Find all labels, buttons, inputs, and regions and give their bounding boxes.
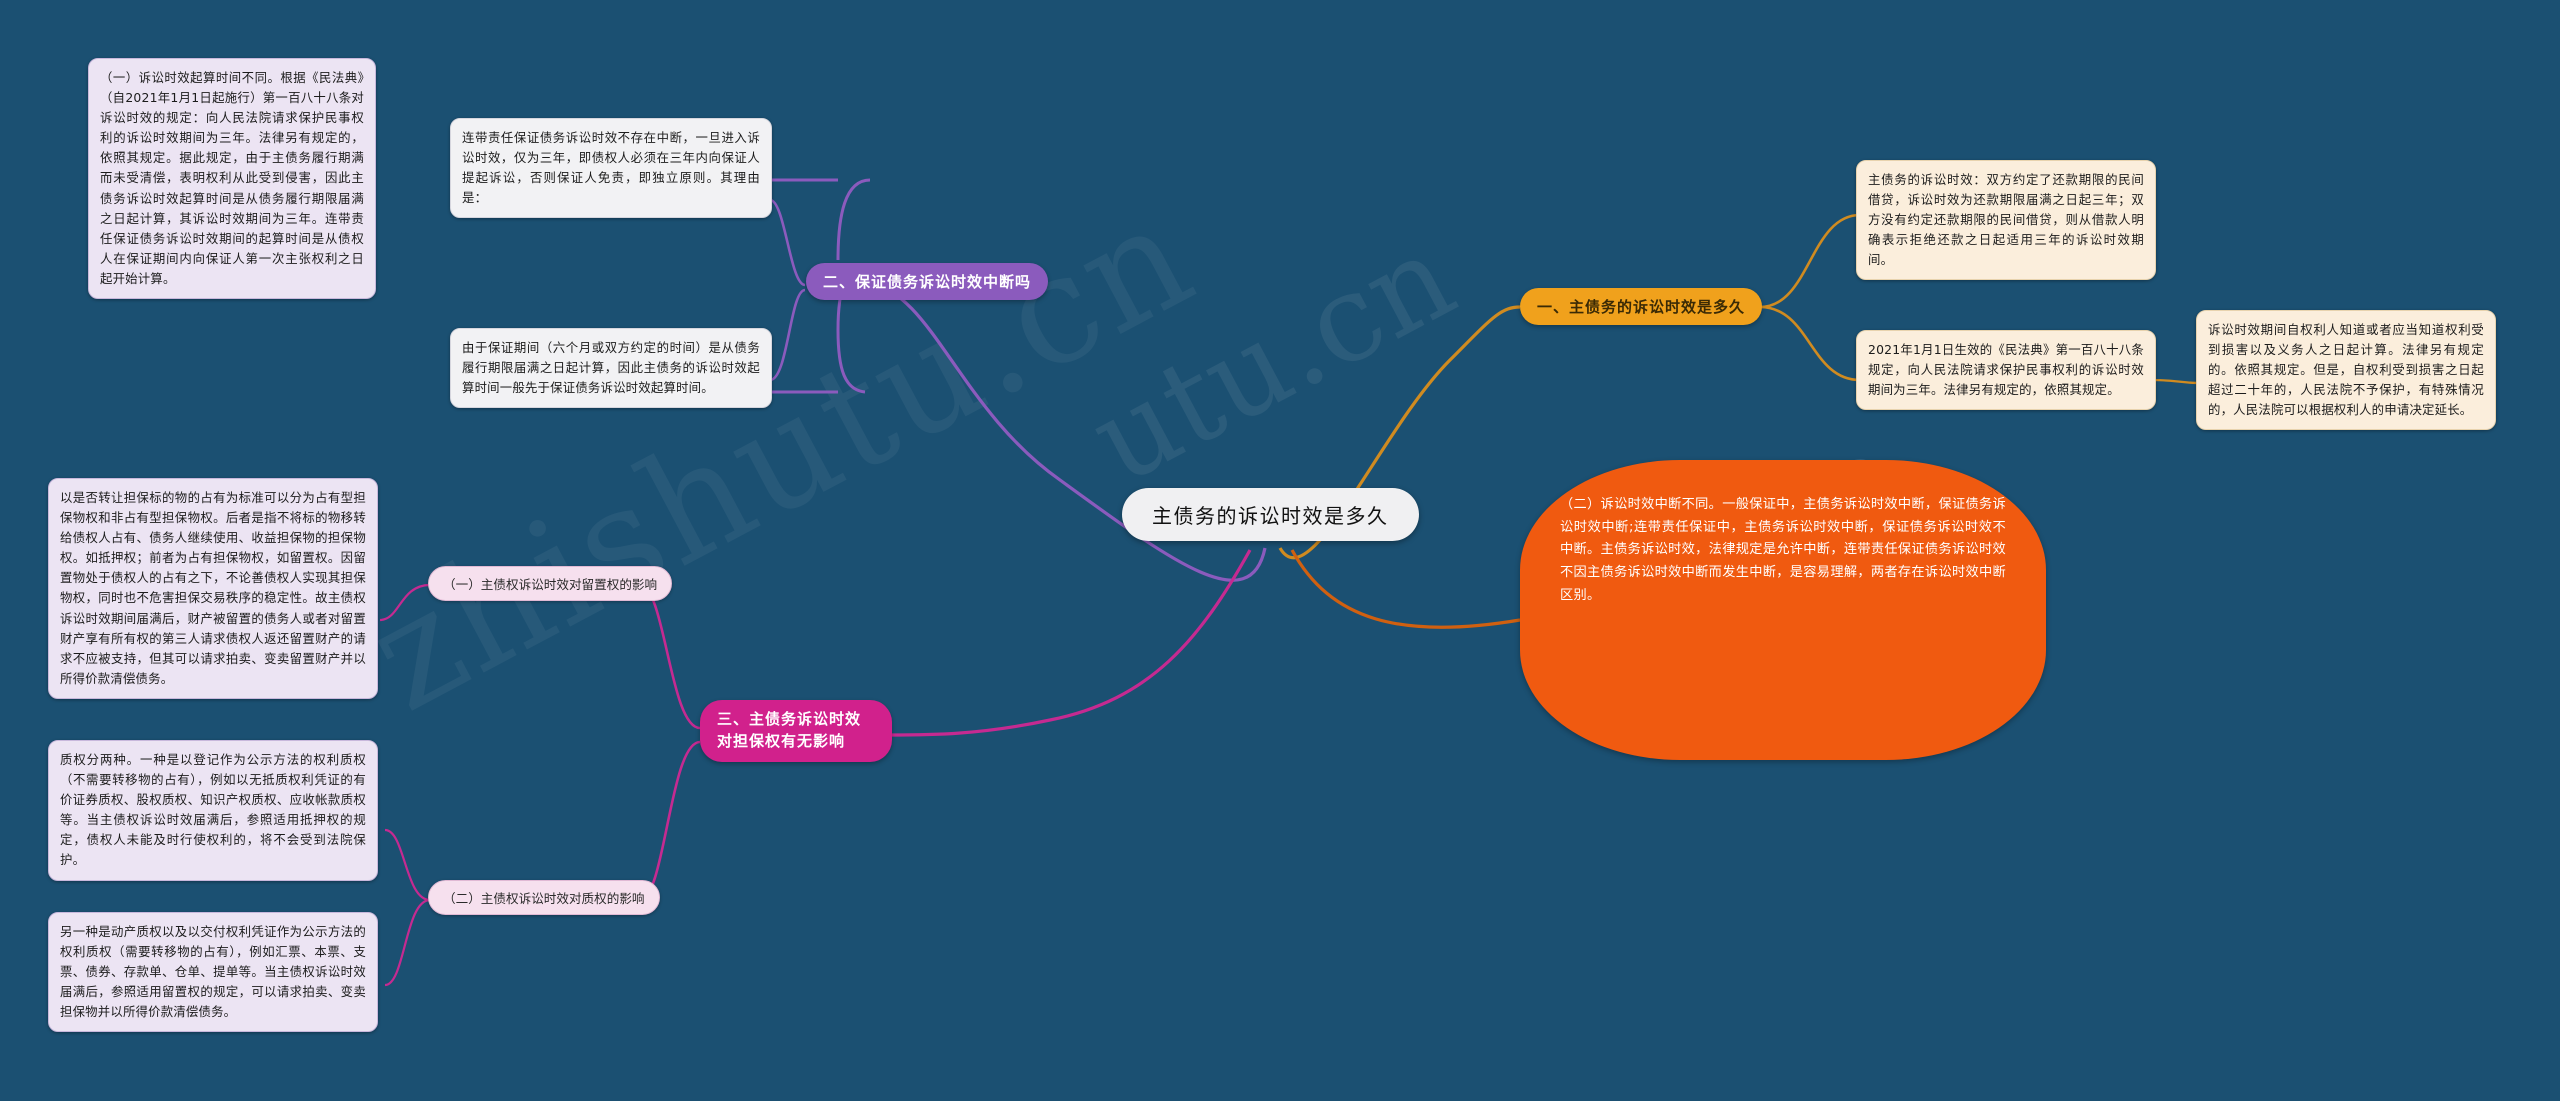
highlight-oval-node[interactable]: （二）诉讼时效中断不同。一般保证中，主债务诉讼时效中断，保证债务诉讼时效中断;连… bbox=[1520, 460, 2046, 760]
leaf-b1-c1[interactable]: 主债务的诉讼时效：双方约定了还款期限的民间借贷，诉讼时效为还款期限届满之日起三年… bbox=[1856, 160, 2156, 280]
mindmap-canvas: zhishutu.cn utu.cn tu.cn bbox=[0, 0, 2560, 1101]
leaf-b3-c1-c1[interactable]: 以是否转让担保标的物的占有为标准可以分为占有型担保物权和非占有型担保物权。后者是… bbox=[48, 478, 378, 699]
leaf-b3-c2-c1[interactable]: 质权分两种。一种是以登记作为公示方法的权利质权（不需要转移物的占有），例如以无抵… bbox=[48, 740, 378, 881]
connector-lines bbox=[0, 0, 2560, 1101]
leaf-b1-c2-c1[interactable]: 诉讼时效期间自权利人知道或者应当知道权利受到损害以及义务人之日起计算。法律另有规… bbox=[2196, 310, 2496, 430]
sub-node-b3-c2[interactable]: （二）主债权诉讼时效对质权的影响 bbox=[428, 880, 660, 915]
branch-node-1[interactable]: 一、主债务的诉讼时效是多久 bbox=[1520, 288, 1762, 325]
leaf-b3-c2-c2[interactable]: 另一种是动产质权以及以交付权利凭证作为公示方法的权利质权（需要转移物的占有），例… bbox=[48, 912, 378, 1032]
leaf-b2-c1[interactable]: （一）诉讼时效起算时间不同。根据《民法典》（自2021年1月1日起施行）第一百八… bbox=[88, 58, 376, 299]
leaf-b1-c2[interactable]: 2021年1月1日生效的《民法典》第一百八十八条规定，向人民法院请求保护民事权利… bbox=[1856, 330, 2156, 410]
center-topic[interactable]: 主债务的诉讼时效是多久 bbox=[1122, 488, 1419, 541]
branch-node-2[interactable]: 二、保证债务诉讼时效中断吗 bbox=[806, 263, 1048, 300]
watermark-text: zhishutu.cn bbox=[342, 169, 1219, 746]
leaf-b2-c3[interactable]: 由于保证期间（六个月或双方约定的时间）是从债务履行期限届满之日起计算，因此主债务… bbox=[450, 328, 772, 408]
branch-node-3[interactable]: 三、主债务诉讼时效对担保权有无影响 bbox=[700, 700, 892, 762]
sub-node-b3-c1[interactable]: （一）主债权诉讼时效对留置权的影响 bbox=[428, 566, 672, 601]
leaf-b2-c2[interactable]: 连带责任保证债务诉讼时效不存在中断，一旦进入诉讼时效，仅为三年，即债权人必须在三… bbox=[450, 118, 772, 218]
